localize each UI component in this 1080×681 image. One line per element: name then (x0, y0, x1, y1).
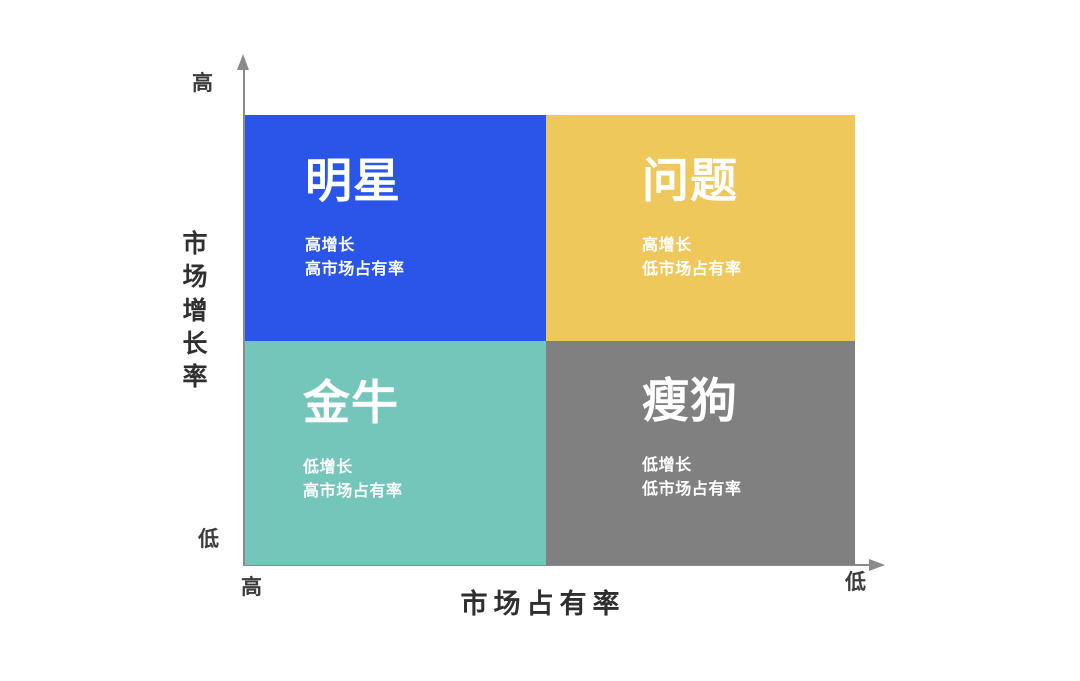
quadrant-question-title: 问题 (642, 155, 855, 208)
quadrant-cash-cow-share: 高市场占有率 (303, 480, 546, 505)
quadrant-question-description: 高增长 低市场占有率 (642, 234, 855, 284)
quadrant-star-title: 明星 (305, 155, 546, 208)
y-axis-low-tick-label: 低 (198, 529, 219, 550)
quadrant-cash-cow-growth: 低增长 (303, 456, 546, 481)
quadrant-dog-title: 瘦狗 (642, 375, 855, 428)
x-axis-title: 市场占有率 (0, 582, 1080, 621)
y-axis-title: 市场增长率 (178, 228, 212, 394)
y-axis-high-tick-label: 高 (192, 73, 213, 94)
quadrant-question-growth: 高增长 (642, 234, 855, 259)
quadrant-star[interactable]: 明星 高增长 高市场占有率 (245, 115, 546, 341)
quadrant-question[interactable]: 问题 高增长 低市场占有率 (546, 115, 855, 341)
quadrant-star-description: 高增长 高市场占有率 (305, 234, 546, 284)
quadrant-dog[interactable]: 瘦狗 低增长 低市场占有率 (546, 341, 855, 565)
y-axis-arrow-icon (237, 54, 249, 70)
quadrant-cash-cow-title: 金牛 (303, 377, 546, 430)
bcg-matrix-diagram: 高 低 高 低 市场增长率 市场占有率 明星 高增长 高市场占有率 问题 高增长… (0, 0, 1080, 681)
quadrant-dog-share: 低市场占有率 (642, 478, 855, 503)
quadrant-dog-description: 低增长 低市场占有率 (642, 454, 855, 504)
quadrant-cash-cow[interactable]: 金牛 低增长 高市场占有率 (245, 341, 546, 565)
quadrant-star-growth: 高增长 (305, 234, 546, 259)
matrix-grid: 明星 高增长 高市场占有率 问题 高增长 低市场占有率 金牛 低增长 高市场占有… (245, 115, 855, 565)
quadrant-question-share: 低市场占有率 (642, 258, 855, 283)
x-axis-arrow-icon (869, 559, 885, 571)
quadrant-cash-cow-description: 低增长 高市场占有率 (303, 456, 546, 506)
quadrant-dog-growth: 低增长 (642, 454, 855, 479)
quadrant-star-share: 高市场占有率 (305, 258, 546, 283)
